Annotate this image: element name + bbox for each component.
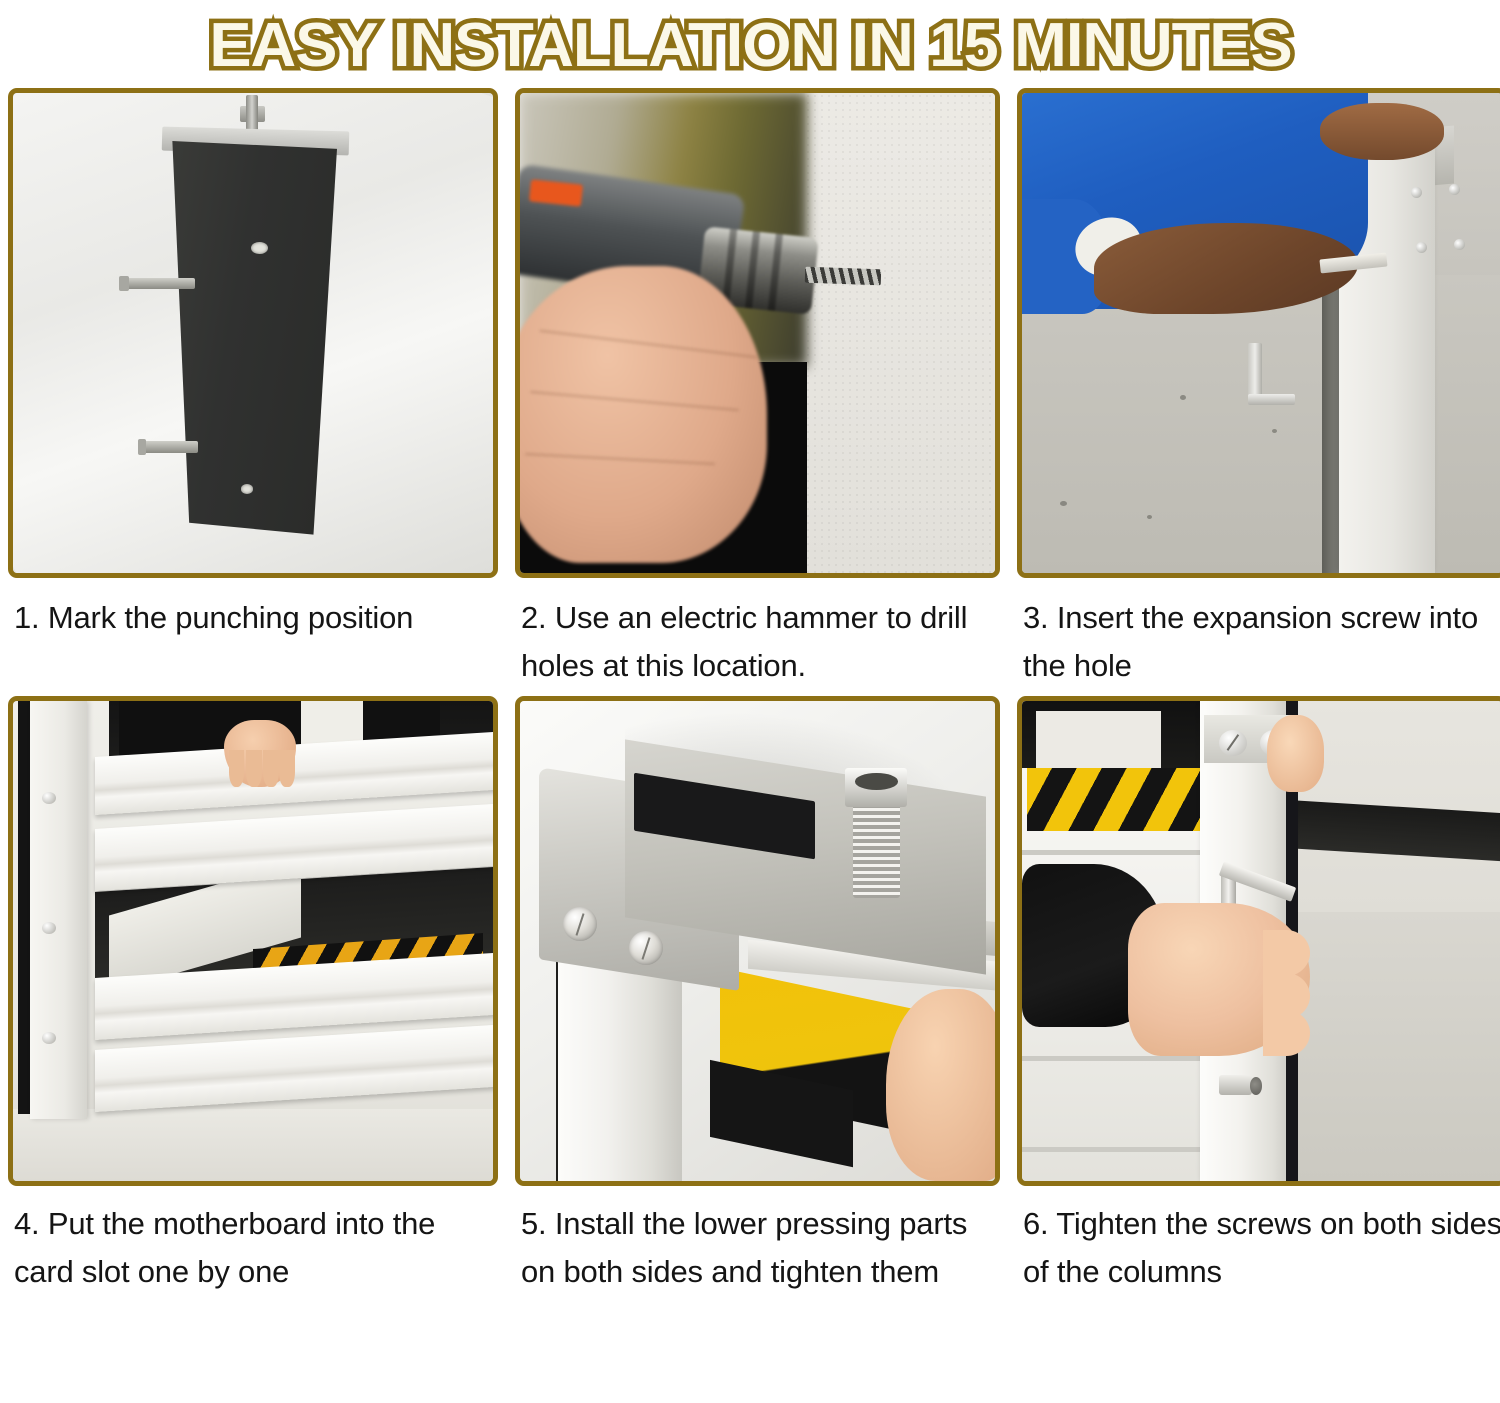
step-1-caption: 1. Mark the punching position [8, 578, 498, 696]
barrier-board [95, 1024, 493, 1112]
step-4-photo [13, 701, 493, 1181]
thumb-bolt-socket [855, 773, 898, 790]
step-card-6: 6. Tighten the screws on both sides of t… [1017, 696, 1500, 1329]
upper-arm [1320, 103, 1445, 161]
column-screw [1454, 239, 1465, 250]
floor [1281, 912, 1500, 1181]
column-screw [1411, 187, 1422, 198]
floor [13, 1109, 493, 1181]
step-4-photo-frame [8, 696, 498, 1186]
lower-screw [1219, 1075, 1253, 1094]
step-5-photo-frame [515, 696, 1000, 1186]
installation-guide-page: EASY INSTALLATION IN 15 MINUTES 1. Mark … [0, 0, 1500, 1403]
post-screw [42, 792, 56, 804]
step-6-caption: 6. Tighten the screws on both sides of t… [1017, 1186, 1500, 1329]
thumb [1267, 715, 1325, 792]
step-5-photo [520, 701, 995, 1181]
hazard-stripe [1027, 768, 1200, 830]
page-title: EASY INSTALLATION IN 15 MINUTES [209, 15, 1291, 77]
post-screw [42, 1032, 56, 1044]
step-2-photo-frame [515, 88, 1000, 578]
step-1-photo [13, 93, 493, 573]
allen-key-on-floor [1248, 343, 1262, 405]
bracket-screw [563, 907, 597, 941]
step-6-photo-frame [1017, 696, 1500, 1186]
header-banner: EASY INSTALLATION IN 15 MINUTES [0, 0, 1500, 88]
step-2-caption: 2. Use an electric hammer to drill holes… [515, 578, 1000, 696]
upper-board [1036, 711, 1161, 769]
wall-surface [805, 93, 995, 573]
step-2-photo [520, 93, 995, 573]
post-screw [42, 922, 56, 934]
step-card-2: 2. Use an electric hammer to drill holes… [515, 88, 1000, 696]
step-1-photo-frame [8, 88, 498, 578]
step-card-3: 3. Insert the expansion screw into the h… [1017, 88, 1500, 696]
column-screw [1416, 242, 1427, 253]
hand [1128, 903, 1310, 1057]
bolt-upper [119, 278, 196, 290]
bolt-lower [138, 441, 198, 453]
step-card-4: 4. Put the motherboard into the card slo… [8, 696, 498, 1329]
hand [520, 266, 767, 564]
base-plate [169, 141, 337, 535]
step-3-caption: 3. Insert the expansion screw into the h… [1017, 578, 1500, 696]
column-screw [1449, 184, 1460, 195]
mounting-hole-upper [251, 242, 268, 254]
column-post [30, 701, 88, 1119]
mounting-hole-lower [241, 484, 253, 494]
hand [224, 720, 296, 787]
steps-grid: 1. Mark the punching position [0, 88, 1500, 1329]
step-6-photo [1022, 701, 1500, 1181]
step-card-5: 5. Install the lower pressing parts on b… [515, 696, 1000, 1329]
step-4-caption: 4. Put the motherboard into the card slo… [8, 1186, 498, 1329]
step-3-photo-frame [1017, 88, 1500, 578]
thumb [886, 989, 995, 1181]
step-card-1: 1. Mark the punching position [8, 88, 498, 696]
step-5-caption: 5. Install the lower pressing parts on b… [515, 1186, 1000, 1329]
post-screw [1219, 730, 1247, 756]
drill-bit [805, 267, 882, 286]
step-3-photo [1022, 93, 1500, 573]
